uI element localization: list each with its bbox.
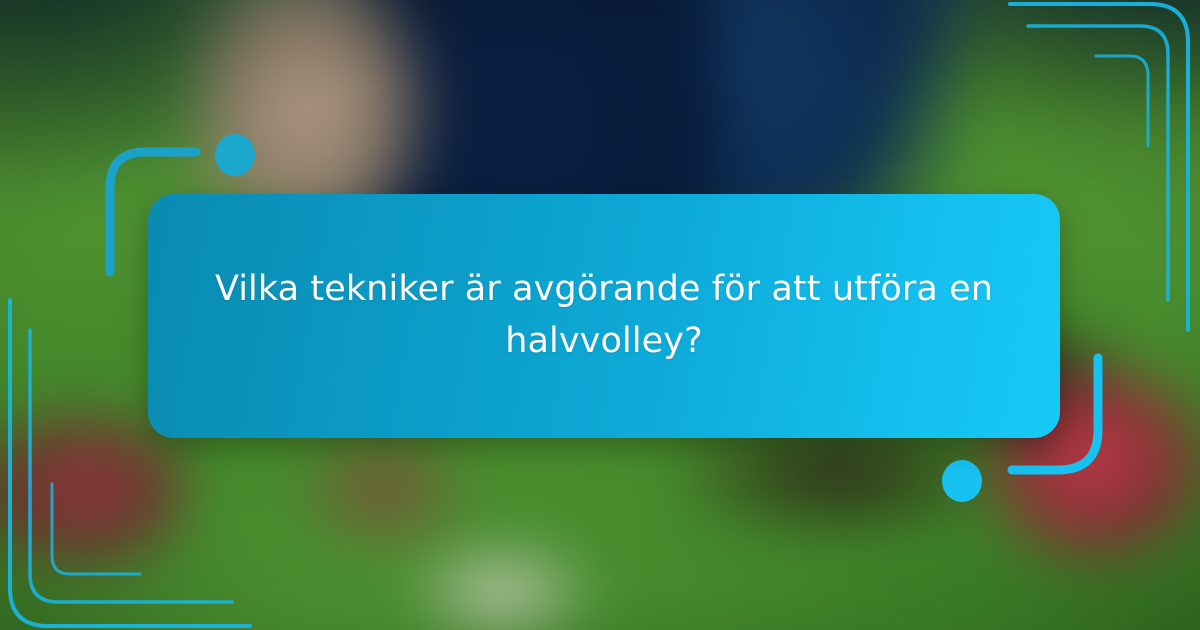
question-text: Vilka tekniker är avgörande för att utfö…	[202, 264, 1006, 368]
question-card[interactable]: Vilka tekniker är avgörande för att utfö…	[148, 194, 1060, 438]
